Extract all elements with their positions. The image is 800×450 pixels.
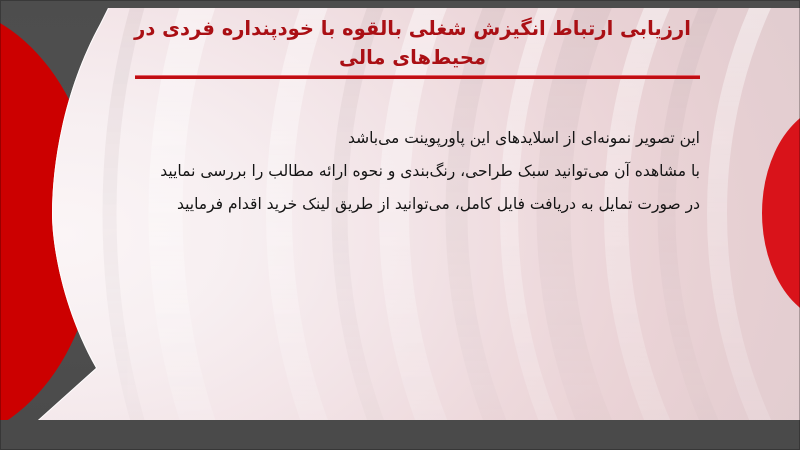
slide-title: ارزیابی ارتباط انگیزش شغلی بالقوه با خود…	[120, 14, 705, 72]
body-text-line-1: این تصویر نمونه‌ای از اسلایدهای این پاور…	[80, 122, 700, 155]
presentation-slide: ارزیابی ارتباط انگیزش شغلی بالقوه با خود…	[0, 0, 800, 450]
slide-bottom-band	[0, 420, 800, 450]
slide-title-line-1: ارزیابی ارتباط انگیزش شغلی بالقوه با خود…	[120, 14, 705, 43]
body-text-line-3: در صورت تمایل به دریافت فایل کامل، می‌تو…	[80, 188, 700, 221]
body-text-line-2: با مشاهده آن می‌توانید سبک طراحی، رنگ‌بن…	[80, 155, 700, 188]
slide-title-line-2: محیط‌های مالی	[120, 43, 705, 72]
title-underline-rule	[135, 75, 700, 79]
slide-body-text: این تصویر نمونه‌ای از اسلایدهای این پاور…	[80, 122, 700, 221]
